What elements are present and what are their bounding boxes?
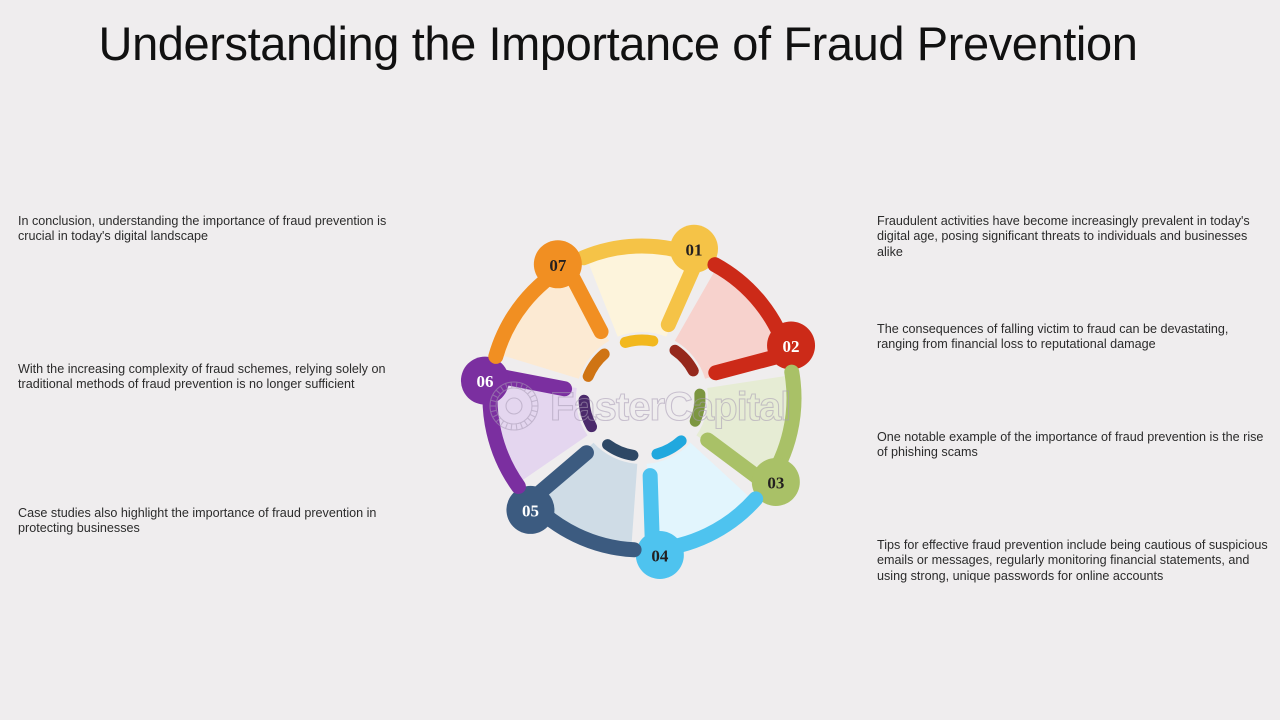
segment-inner-arc-06	[584, 400, 592, 426]
segment-number-knob-05[interactable]	[506, 486, 554, 534]
segment-number-knob-06[interactable]	[461, 357, 509, 405]
radial-segment-diagram: 01020304050607	[430, 186, 854, 610]
note-right-4: Tips for effective fraud prevention incl…	[877, 538, 1273, 584]
note-left-3: Case studies also highlight the importan…	[18, 506, 410, 537]
note-right-1: Fraudulent activities have become increa…	[877, 214, 1273, 260]
infographic-page: Understanding the Importance of Fraud Pr…	[0, 0, 1280, 720]
segment-inner-arc-07	[588, 354, 604, 376]
wheel-segment-02[interactable]: 02	[675, 265, 815, 379]
segments-group: 01020304050607	[461, 225, 815, 579]
segment-number-knob-07[interactable]	[534, 240, 582, 288]
segment-inner-arc-02	[675, 350, 693, 371]
segment-inner-arc-01	[625, 340, 652, 342]
segment-number-knob-04[interactable]	[636, 531, 684, 579]
wheel-svg: 01020304050607	[430, 186, 854, 610]
segment-inner-arc-05	[608, 445, 633, 456]
note-left-1: In conclusion, understanding the importa…	[18, 214, 410, 245]
segment-inner-arc-03	[695, 394, 700, 421]
segment-inner-arc-04	[657, 441, 681, 454]
page-title: Understanding the Importance of Fraud Pr…	[0, 18, 1236, 70]
note-left-2: With the increasing complexity of fraud …	[18, 362, 410, 393]
note-right-3: One notable example of the importance of…	[877, 430, 1273, 461]
note-right-2: The consequences of falling victim to fr…	[877, 322, 1273, 353]
segment-number-knob-02[interactable]	[767, 322, 815, 370]
